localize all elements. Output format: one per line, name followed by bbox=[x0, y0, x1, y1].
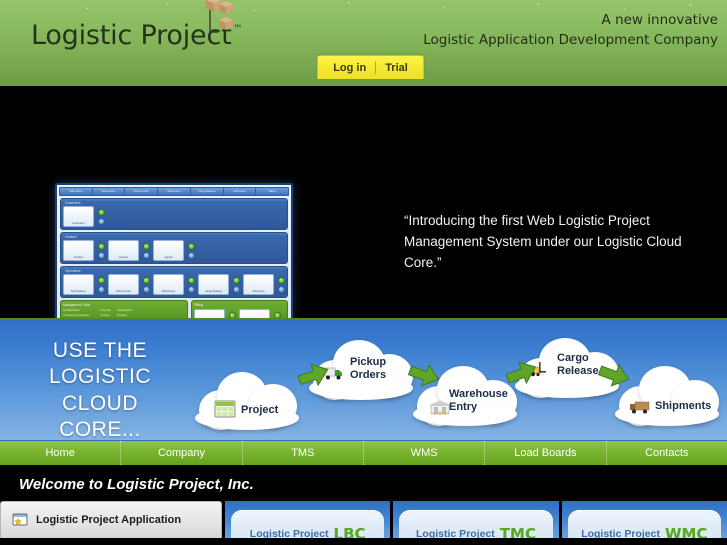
tile-actions bbox=[98, 240, 105, 261]
headline-line-3: CLOUD CORE... bbox=[20, 391, 180, 441]
search-dot-icon bbox=[98, 286, 105, 293]
column-item: Access bbox=[101, 313, 112, 318]
settings-dot-icon bbox=[233, 277, 240, 284]
app-tile: Vendors bbox=[63, 240, 94, 261]
tab-logistic-project-tmc[interactable]: Logistic Project TMC bbox=[393, 501, 558, 538]
tile-row: Invoices Bills bbox=[194, 307, 285, 318]
tile-actions bbox=[98, 274, 105, 295]
app-tile: Invoices bbox=[194, 309, 225, 318]
cloud-label-line-2: Release bbox=[557, 365, 599, 378]
tile-actions bbox=[274, 309, 281, 318]
search-dot-icon bbox=[233, 286, 240, 293]
app-menu-item: Shipments bbox=[224, 188, 256, 195]
cloud-headline: USE THE LOGISTIC CLOUD CORE... bbox=[20, 338, 180, 440]
search-dot-icon bbox=[143, 252, 150, 259]
search-dot-icon bbox=[188, 286, 195, 293]
management-column: Security Access Modules Users bbox=[101, 308, 112, 318]
cloud-label-line-1: Warehouse bbox=[449, 388, 508, 401]
tab-product-name: Logistic Project bbox=[581, 528, 660, 538]
app-menu-item: Billing bbox=[256, 188, 288, 195]
tile-row: Customers bbox=[63, 206, 285, 227]
nav-item-company[interactable]: Company bbox=[121, 441, 242, 465]
tile-row: Reservations Pickup Order Warehouse Carg… bbox=[63, 274, 285, 295]
app-menu-item: Reservation bbox=[93, 188, 125, 195]
app-menu-item: Main Menu bbox=[60, 188, 92, 195]
settings-dot-icon bbox=[188, 243, 195, 250]
search-dot-icon bbox=[98, 252, 105, 259]
cloud-label-line-2: Orders bbox=[350, 369, 386, 382]
tab-inner: Logistic Project LBC bbox=[231, 510, 384, 538]
tile-actions bbox=[143, 274, 150, 295]
settings-dot-icon bbox=[98, 243, 105, 250]
cloud-label: Warehouse Entry bbox=[449, 388, 508, 413]
cloud-core-section: USE THE LOGISTIC CLOUD CORE... Project bbox=[0, 318, 727, 440]
settings-dot-icon bbox=[143, 243, 150, 250]
app-tile: Warehouse bbox=[153, 274, 184, 295]
main-navigation: Home Company TMS WMS Load Boards Contact… bbox=[0, 440, 727, 468]
tab-product-name: Logistic Project bbox=[250, 528, 329, 538]
app-tile: Shipments bbox=[243, 274, 274, 295]
hero-banner: Main Menu Reservation Pickup Order Wareh… bbox=[0, 86, 727, 318]
app-section-operations: Operations Reservations Pickup Order War… bbox=[60, 266, 288, 298]
app-menu-item: Cargo Release bbox=[191, 188, 223, 195]
app-menu-item: Pickup Order bbox=[125, 188, 157, 195]
header-tagline: A new innovative Logistic Application De… bbox=[423, 11, 718, 50]
tagline-line-1: A new innovative bbox=[423, 11, 718, 31]
tab-app-label: Logistic Project Application bbox=[36, 514, 181, 526]
app-screenshot-preview: Main Menu Reservation Pickup Order Wareh… bbox=[55, 183, 293, 318]
arrow-right-icon bbox=[505, 360, 539, 388]
product-tabs-row: Logistic Project Application Logistic Pr… bbox=[0, 501, 727, 538]
tile-actions bbox=[278, 274, 285, 295]
app-tile: Cargo Release bbox=[198, 274, 229, 295]
tab-product-name: Logistic Project bbox=[416, 528, 495, 538]
tab-logistic-project-lbc[interactable]: Logistic Project LBC bbox=[225, 501, 390, 538]
tile-actions bbox=[143, 240, 150, 261]
cloud-label: Shipments bbox=[655, 400, 711, 413]
settings-dot-icon bbox=[98, 209, 105, 216]
login-link[interactable]: Log in bbox=[324, 62, 375, 74]
login-trial-tab: Log in Trial bbox=[317, 55, 424, 79]
nav-item-contacts[interactable]: Contacts bbox=[607, 441, 727, 465]
app-tile: Customers bbox=[63, 206, 94, 227]
tab-product-code: LBC bbox=[334, 525, 366, 538]
search-dot-icon bbox=[188, 252, 195, 259]
cloud-label-line-1: Cargo bbox=[557, 352, 599, 365]
app-bottom-panels: Management Tools Configuration Company I… bbox=[60, 300, 288, 318]
tile-actions bbox=[98, 206, 105, 227]
tile-actions bbox=[188, 240, 195, 261]
tab-inner: Logistic Project TMC bbox=[399, 510, 552, 538]
management-column: Configuration Company Information Docume… bbox=[63, 308, 95, 318]
settings-dot-icon bbox=[143, 277, 150, 284]
arrow-right-icon bbox=[407, 362, 441, 390]
window-star-icon bbox=[12, 513, 29, 528]
tab-inner: Logistic Project WMC bbox=[568, 510, 721, 538]
app-menu-bar: Main Menu Reservation Pickup Order Wareh… bbox=[59, 187, 289, 196]
search-dot-icon bbox=[278, 286, 285, 293]
cloud-step-project[interactable]: Project bbox=[193, 368, 305, 432]
management-columns: Configuration Company Information Docume… bbox=[63, 307, 185, 318]
app-tile: Carriers bbox=[108, 240, 139, 261]
tile-row: Vendors Carriers Agents bbox=[63, 240, 285, 261]
nav-item-tms[interactable]: TMS bbox=[243, 441, 364, 465]
app-menu-item: Warehouse bbox=[158, 188, 190, 195]
search-dot-icon bbox=[143, 286, 150, 293]
cloud-label: Cargo Release bbox=[557, 352, 599, 377]
column-item: Company Information bbox=[63, 313, 95, 318]
search-dot-icon bbox=[98, 218, 105, 225]
arrow-right-icon bbox=[597, 362, 631, 390]
cloud-label-line-1: Shipments bbox=[655, 400, 711, 413]
cloud-label: Project bbox=[241, 404, 278, 417]
headline-line-1: USE THE bbox=[20, 338, 180, 364]
app-section-billing: Billing Invoices Bills bbox=[191, 300, 288, 318]
settings-dot-icon bbox=[98, 277, 105, 284]
spreadsheet-icon bbox=[214, 400, 236, 418]
nav-item-load-boards[interactable]: Load Boards bbox=[485, 441, 606, 465]
settings-dot-icon bbox=[278, 277, 285, 284]
cargo-truck-icon bbox=[629, 398, 651, 416]
cloud-label-line-1: Pickup bbox=[350, 356, 386, 369]
tab-product-code: WMC bbox=[665, 525, 707, 538]
app-tile: Pickup Order bbox=[108, 274, 139, 295]
tab-logistic-project-application[interactable]: Logistic Project Application bbox=[0, 501, 222, 538]
welcome-bar: Welcome to Logistic Project, Inc. bbox=[0, 468, 727, 501]
management-column: Geographic Country States Ports bbox=[117, 308, 131, 318]
app-section-management-tools: Management Tools Configuration Company I… bbox=[60, 300, 188, 318]
tile-actions bbox=[233, 274, 240, 295]
app-tile: Bills bbox=[239, 309, 270, 318]
app-section-vendors: Vendors Vendors Carriers Agents bbox=[60, 232, 288, 264]
stacked-boxes-icon bbox=[198, 0, 238, 38]
page-title: Welcome to Logistic Project, Inc. bbox=[0, 476, 254, 493]
headline-line-2: LOGISTIC bbox=[20, 364, 180, 390]
tab-logistic-project-wmc[interactable]: Logistic Project WMC bbox=[562, 501, 727, 538]
tile-actions bbox=[229, 309, 236, 318]
warehouse-building-icon bbox=[429, 398, 451, 416]
tile-actions bbox=[188, 274, 195, 295]
cloud-label: Pickup Orders bbox=[350, 356, 386, 381]
arrow-right-icon bbox=[297, 362, 331, 390]
site-header: Logistic Project ™ A new innova bbox=[0, 0, 727, 86]
cloud-label-line-1: Project bbox=[241, 404, 278, 417]
nav-item-home[interactable]: Home bbox=[0, 441, 121, 465]
hero-quote: “Introducing the first Web Logistic Proj… bbox=[404, 211, 709, 274]
app-tile: Reservations bbox=[63, 274, 94, 295]
trial-link[interactable]: Trial bbox=[376, 62, 417, 74]
app-tile: Agents bbox=[153, 240, 184, 261]
app-section-customers: Customers Customers bbox=[60, 198, 288, 230]
cloud-label-line-2: Entry bbox=[449, 401, 508, 414]
page-root: Logistic Project ™ A new innova bbox=[0, 0, 727, 545]
nav-item-wms[interactable]: WMS bbox=[364, 441, 485, 465]
tab-product-code: TMC bbox=[500, 525, 536, 538]
settings-dot-icon bbox=[188, 277, 195, 284]
tagline-line-2: Logistic Application Development Company bbox=[423, 31, 718, 51]
